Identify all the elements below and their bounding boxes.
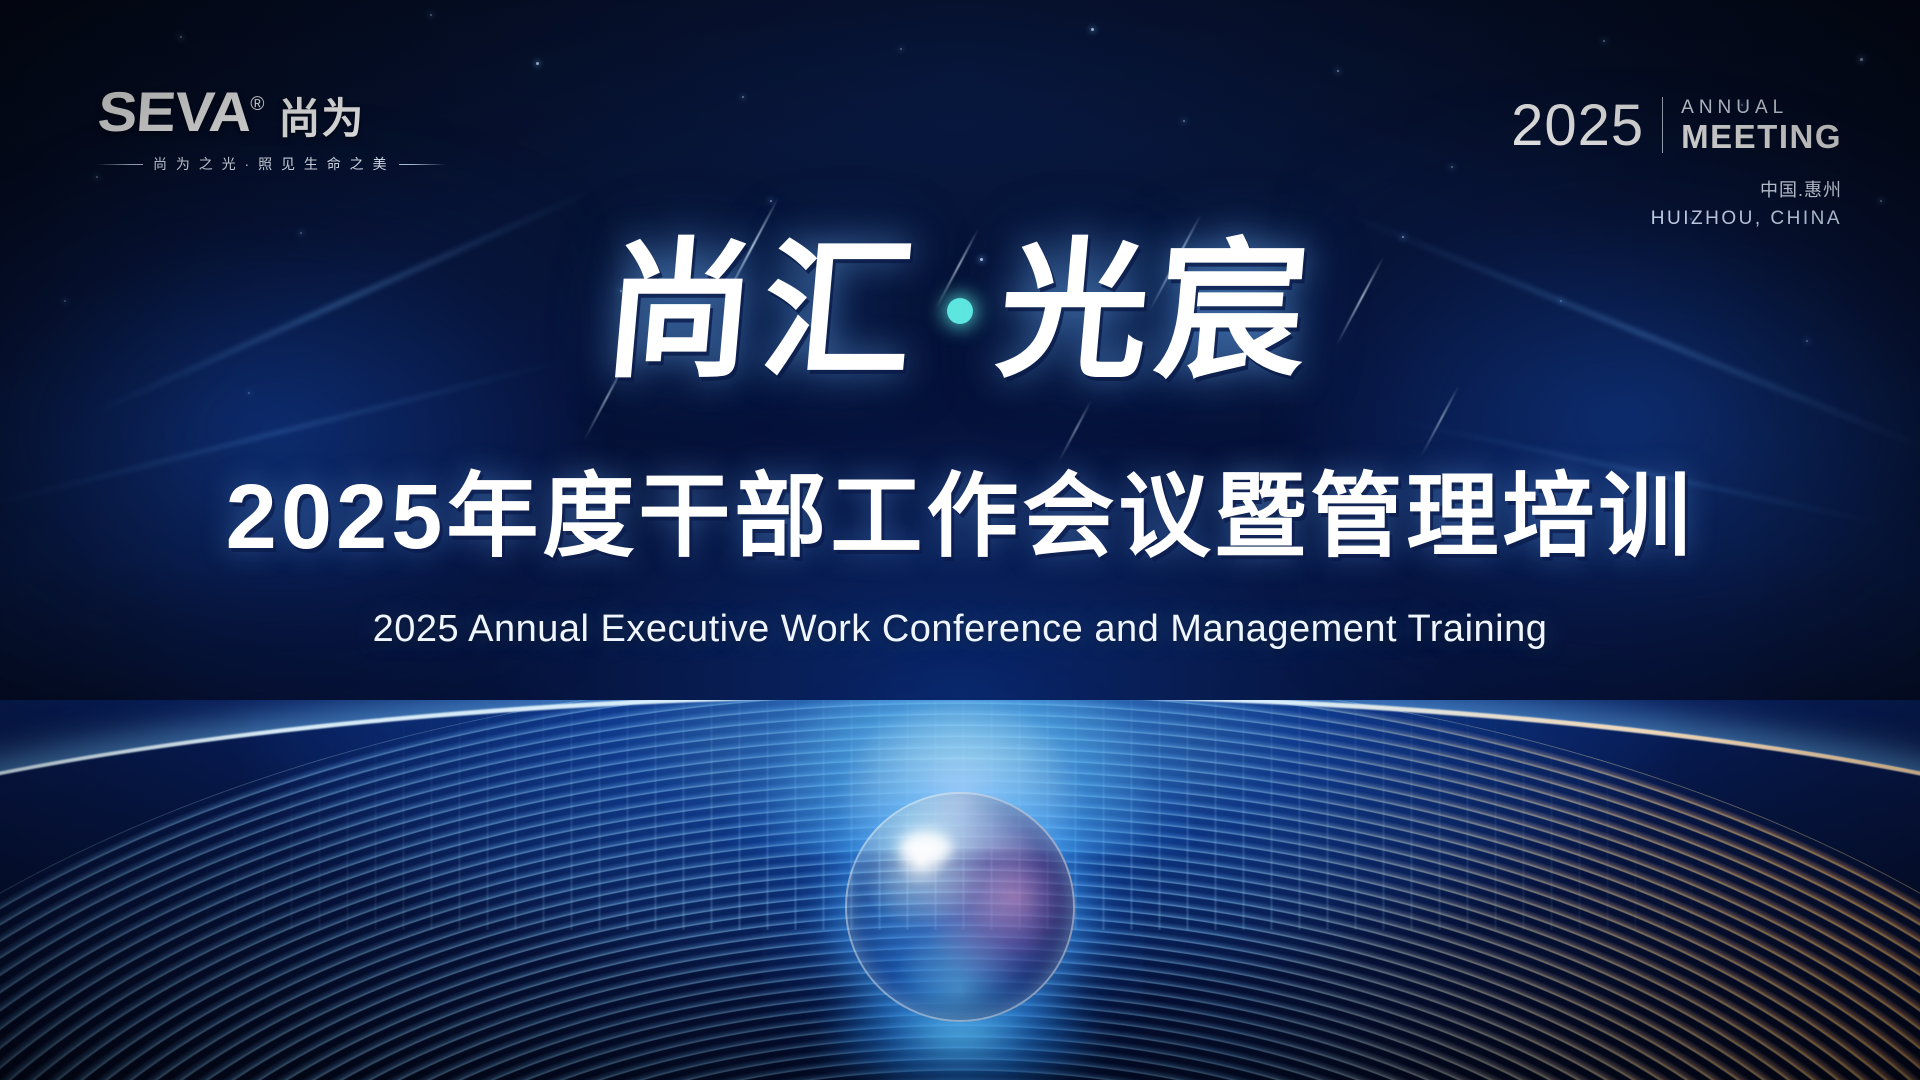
brand-wordmark-row: SEVA ® 尚为 (96, 84, 456, 140)
subtitle-chinese: 2025年度干部工作会议暨管理培训 (0, 468, 1920, 567)
registered-trademark-icon: ® (250, 95, 264, 114)
light-streak (1058, 400, 1093, 463)
sphere-rim (845, 792, 1075, 1022)
meeting-info-block: 2025 ANNUAL MEETING 中国.惠州 HUIZHOU, CHINA (1511, 96, 1842, 230)
title-word-right: 光宸 (992, 236, 1321, 386)
subtitle-english: 2025 Annual Executive Work Conference an… (0, 608, 1920, 651)
meeting-title-row: 2025 ANNUAL MEETING (1511, 96, 1842, 154)
concentric-rings-warm (0, 700, 1920, 1080)
tagline-rule-right (399, 164, 446, 165)
center-light-burst (730, 700, 1190, 854)
city-cn: 中国.惠州 (1511, 176, 1842, 202)
title-separator-dot-icon (947, 298, 973, 324)
tagline-rule-left (96, 164, 143, 165)
brand-logo[interactable]: SEVA ® 尚为 尚 为 之 光 · 照 见 生 命 之 美 (96, 84, 456, 174)
light-streak (1420, 385, 1459, 457)
city-en: HUIZHOU, CHINA (1511, 208, 1842, 230)
horizon-arc (0, 700, 1920, 1080)
meeting-year: 2025 (1511, 99, 1644, 152)
annual-label: ANNUAL (1681, 97, 1788, 118)
seva-wordmark: SEVA (96, 84, 253, 140)
horizon-arc-warm (0, 700, 1920, 1080)
ripple-light-field (0, 700, 1920, 1080)
sphere-body (845, 792, 1075, 1022)
sphere-specular-highlight (900, 831, 952, 865)
brand-tagline: 尚 为 之 光 · 照 见 生 命 之 美 (153, 154, 389, 174)
title-word-left: 尚汇 (598, 236, 927, 386)
page-title: 尚汇 光宸 (0, 236, 1920, 386)
crystal-sphere (845, 792, 1075, 1022)
concentric-rings-cool (0, 700, 1920, 1080)
sphere-underglow (815, 981, 1105, 1080)
vertical-divider (1662, 97, 1663, 153)
meeting-label: MEETING (1681, 118, 1842, 155)
brand-tagline-row: 尚 为 之 光 · 照 见 生 命 之 美 (96, 154, 446, 174)
brand-name-cn: 尚为 (278, 98, 364, 140)
conference-banner: SEVA ® 尚为 尚 为 之 光 · 照 见 生 命 之 美 2025 ANN… (0, 0, 1920, 1080)
floor-base (0, 700, 1920, 1080)
meeting-label-group: ANNUAL MEETING (1681, 96, 1842, 154)
vertical-light-rays (0, 700, 1920, 930)
